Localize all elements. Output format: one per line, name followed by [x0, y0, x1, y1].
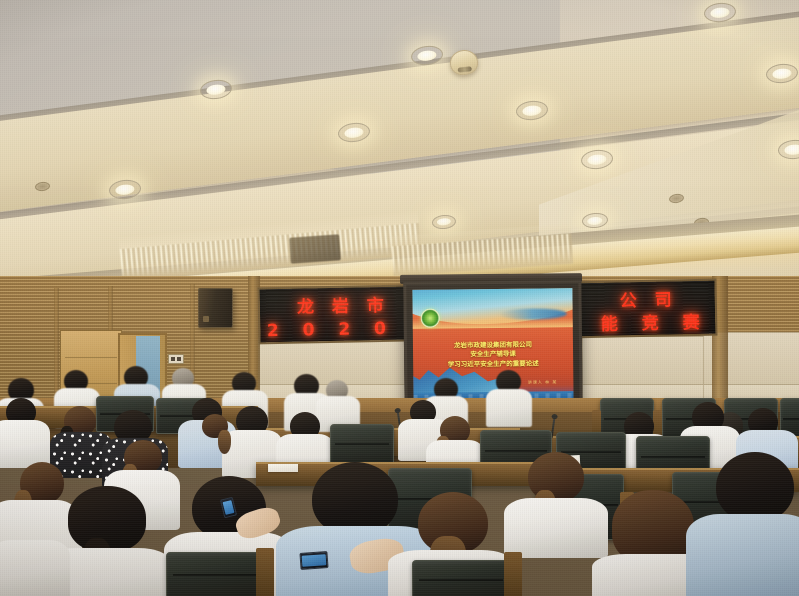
wall-panel-beige — [258, 338, 408, 386]
conference-hall-photo: 龙 岩 市公 司 2 0 2 0能 竞 赛 龙岩市政建设集团有限公司 安全生产辅… — [0, 0, 799, 596]
slide-signature: 讲课人 林 某 — [528, 379, 558, 385]
audience-chair[interactable] — [412, 560, 510, 596]
led-line2-right: 能 竞 赛 — [601, 313, 709, 335]
slide-title-line-3: 学习习近平安全生产的重要论述 — [413, 359, 573, 370]
audience-chair[interactable] — [166, 552, 264, 596]
wall-power-outlet[interactable] — [168, 354, 184, 364]
chair-armrest — [256, 548, 274, 596]
desk-document — [268, 464, 298, 472]
audience-chair[interactable] — [330, 424, 394, 466]
smartphone-in-hand[interactable] — [299, 551, 328, 570]
chair-armrest — [504, 552, 522, 596]
slide-title-block: 龙岩市政建设集团有限公司 安全生产辅导课 学习习近平安全生产的重要论述 — [413, 340, 573, 370]
chandelier-fixture-body — [289, 234, 341, 263]
slide-sky-streak — [499, 308, 566, 319]
wall-panel-beige — [582, 336, 704, 386]
wall-speaker — [198, 288, 233, 328]
safety-production-emblem-icon — [421, 308, 440, 327]
led-line2-left: 2 0 2 0 — [267, 319, 395, 341]
